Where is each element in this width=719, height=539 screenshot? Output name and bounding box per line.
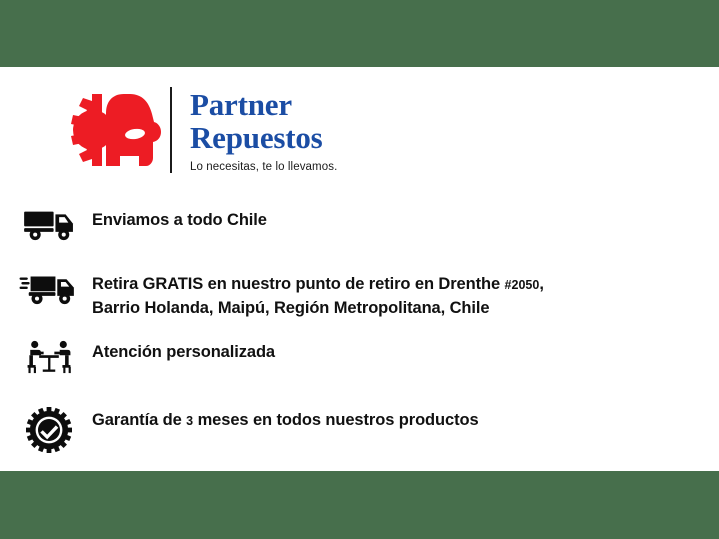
feature-item-pickup: Retira GRATIS en nuestro punto de retiro…	[0, 269, 719, 327]
pickup-text-part-1: Retira GRATIS en nuestro punto de retiro…	[92, 275, 505, 293]
logo-divider	[170, 87, 172, 173]
brand-logo: Partner Repuestos Lo necesitas, te lo ll…	[52, 87, 337, 173]
gear-car-logo-icon	[52, 88, 164, 172]
people-at-table-icon	[18, 337, 80, 375]
brand-name-line-1: Partner	[190, 88, 337, 121]
feature-item-support: Atención personalizada	[0, 337, 719, 395]
content-canvas: Partner Repuestos Lo necesitas, te lo ll…	[0, 67, 719, 471]
feature-text-pickup: Retira GRATIS en nuestro punto de retiro…	[80, 269, 719, 320]
guarantee-badge-check-icon	[18, 405, 80, 453]
feature-item-warranty: Garantía de 3 meses en todos nuestros pr…	[0, 405, 719, 463]
warranty-text-part-2: meses en todos nuestros productos	[193, 411, 478, 429]
feature-list: Enviamos a todo Chile	[0, 205, 719, 463]
bottom-green-band	[0, 471, 719, 539]
feature-text-shipping: Enviamos a todo Chile	[80, 205, 719, 232]
pickup-text-part-2: ,	[539, 275, 543, 293]
brand-tagline: Lo necesitas, te lo llevamos.	[190, 161, 337, 173]
feature-text-warranty: Garantía de 3 meses en todos nuestros pr…	[80, 405, 719, 433]
warranty-text-part-1: Garantía de	[92, 411, 186, 429]
pickup-text-line-2: Barrio Holanda, Maipú, Región Metropolit…	[92, 299, 489, 317]
pickup-street-number: #2050	[505, 278, 540, 292]
feature-text-support: Atención personalizada	[80, 337, 719, 364]
feature-item-shipping: Enviamos a todo Chile	[0, 205, 719, 263]
delivery-truck-icon	[18, 205, 80, 242]
brand-text: Partner Repuestos Lo necesitas, te lo ll…	[190, 88, 337, 173]
top-green-band	[0, 0, 719, 67]
brand-name-line-2: Repuestos	[190, 121, 337, 154]
fast-delivery-truck-icon	[18, 269, 80, 306]
